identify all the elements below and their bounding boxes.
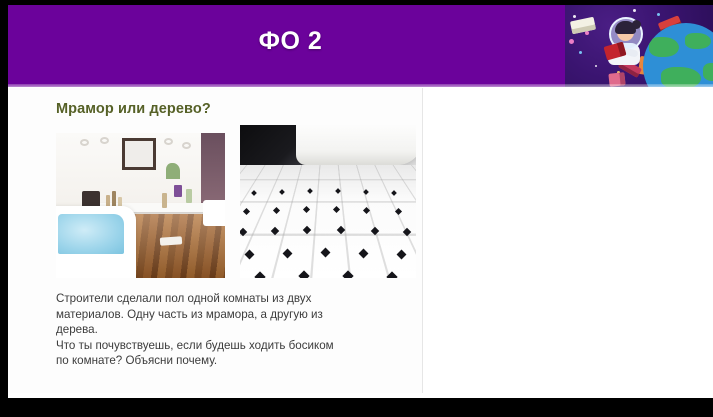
task-text-line-5: по комнате? Объясни почему. xyxy=(56,353,408,369)
astronaut-child-icon xyxy=(603,17,647,65)
task-text-line-4: Что ты почувствуешь, если будешь ходить … xyxy=(56,338,408,354)
section-title: Мрамор или дерево? xyxy=(56,101,211,117)
right-blank-area xyxy=(423,88,713,393)
slide-content-card: Мрамор или дерево? xyxy=(8,88,423,393)
wall-decor-dot xyxy=(100,137,109,144)
star-icon xyxy=(569,39,574,44)
star-icon xyxy=(595,65,597,67)
floating-book-icon xyxy=(608,72,625,87)
planet-landmass xyxy=(661,67,701,87)
astronaut-space-illustration xyxy=(565,5,713,87)
folded-towel xyxy=(174,185,182,197)
header-banner: ФО 2 xyxy=(8,5,713,87)
tub-water xyxy=(58,214,124,254)
floating-book-icon xyxy=(570,17,596,35)
astronaut-hair-bun xyxy=(632,20,641,29)
slide-screen: ФО 2 xyxy=(0,0,713,417)
task-text-line-3: дерева. xyxy=(56,322,408,338)
star-icon xyxy=(579,51,582,54)
planet-landmass xyxy=(685,33,711,49)
star-icon xyxy=(633,9,636,12)
star-icon xyxy=(573,15,576,18)
task-text-line-2: материалов. Одну часть из мрамора, а дру… xyxy=(56,307,408,323)
task-text-line-1: Строители сделали пол одной комнаты из д… xyxy=(56,291,408,307)
wall-decor-dot xyxy=(80,139,89,146)
planet-earth-icon xyxy=(643,23,713,87)
bottle-icon xyxy=(186,189,192,203)
top-black-border xyxy=(0,0,713,5)
tile-grout-grid xyxy=(240,165,416,278)
task-text: Строители сделали пол одной комнаты из д… xyxy=(56,291,408,369)
marble-tile-floor xyxy=(240,165,416,278)
wall-decor-dot xyxy=(164,138,173,145)
bathroom-mirror xyxy=(122,138,156,170)
bottle-icon xyxy=(162,193,167,208)
page-title: ФО 2 xyxy=(8,27,573,56)
bathroom-wooden-floor-photo xyxy=(56,133,225,278)
plant-icon xyxy=(166,163,180,179)
marble-tile-floor-photo xyxy=(240,125,416,278)
planet-landmass xyxy=(649,37,679,57)
star-icon xyxy=(657,13,660,16)
bathtub-base xyxy=(296,125,416,165)
wall-panel xyxy=(201,133,225,208)
planet-landmass xyxy=(703,63,713,81)
hanging-towel xyxy=(203,200,225,226)
bottom-black-border xyxy=(0,398,713,417)
left-black-border xyxy=(0,0,8,417)
wall-decor-dot xyxy=(182,142,191,149)
